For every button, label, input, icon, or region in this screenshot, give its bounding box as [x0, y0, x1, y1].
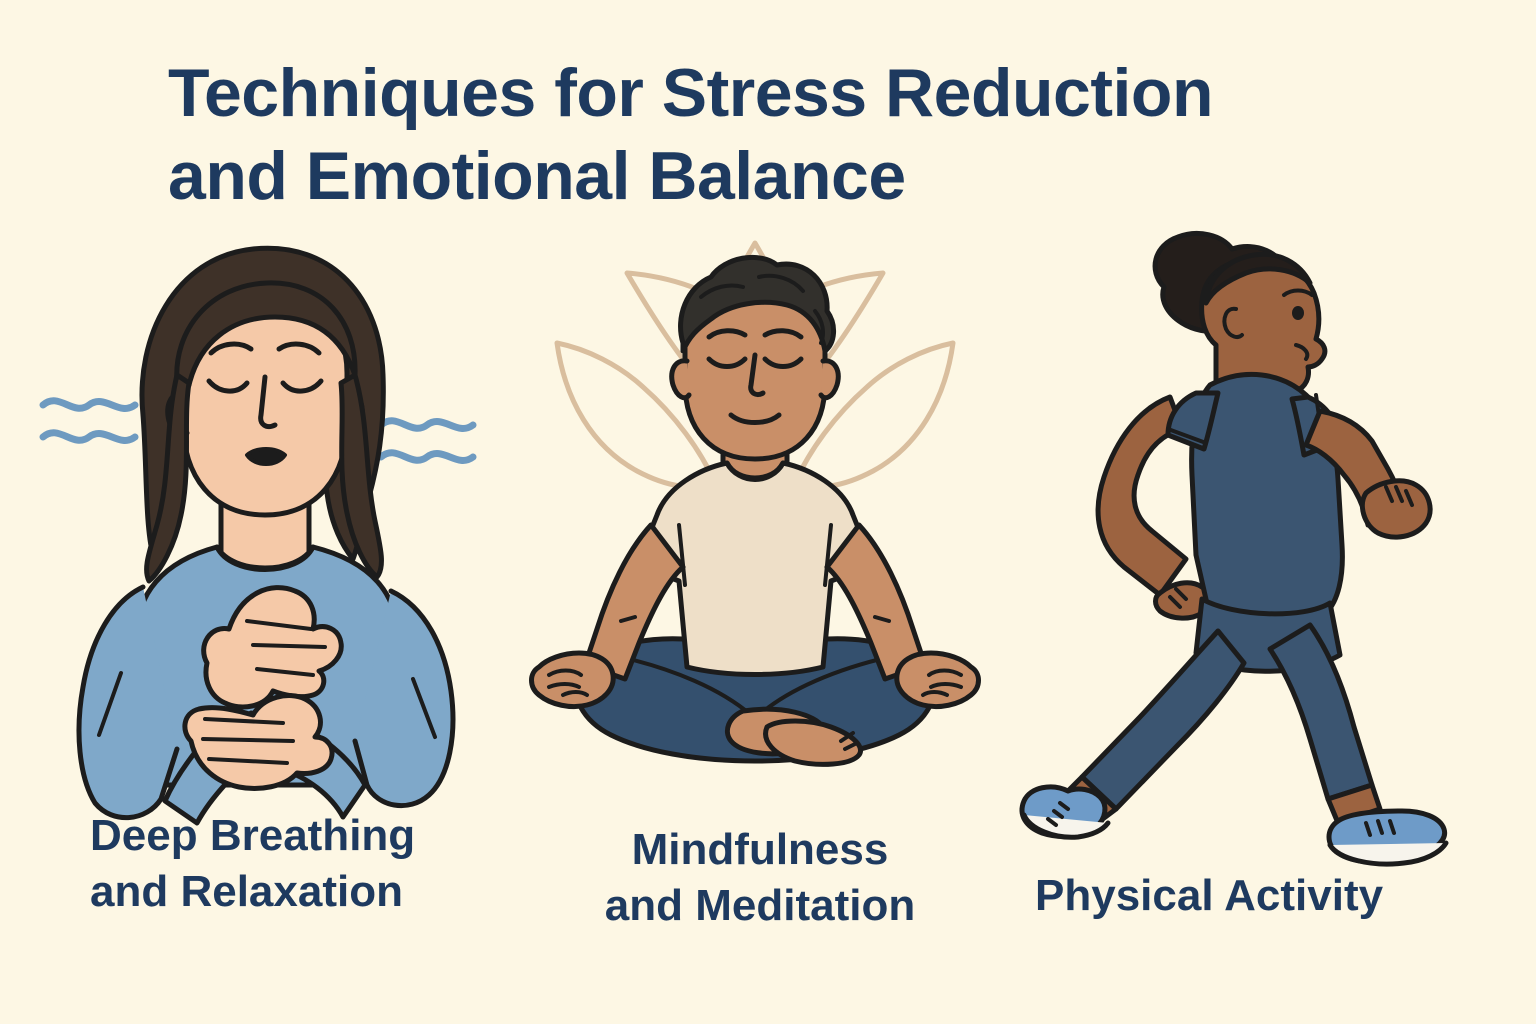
illustration-physical-activity [1020, 225, 1500, 825]
shoe-front-sole [1330, 843, 1446, 864]
caption-deep-breathing: Deep Breathing and Relaxation [90, 808, 490, 921]
leg-back [1082, 631, 1244, 809]
mudra-hand-right [897, 653, 979, 707]
page-title: Techniques for Stress Reduction and Emot… [168, 52, 1368, 218]
ear-left [672, 361, 689, 398]
caption-physical-activity: Physical Activity [1035, 868, 1455, 924]
breath-wave-left [43, 401, 135, 441]
illustration-mindfulness [515, 225, 995, 825]
caption-mindfulness: Mindfulness and Meditation [560, 822, 960, 935]
mudra-hand-left [532, 653, 614, 707]
ear-right [821, 361, 838, 398]
mouth-open [247, 449, 285, 464]
illustration-deep-breathing [25, 225, 505, 825]
infographic-poster: Techniques for Stress Reduction and Emot… [0, 0, 1536, 1024]
breath-wave-right [381, 421, 473, 461]
leg-front [1270, 625, 1372, 799]
eye [1292, 306, 1304, 320]
